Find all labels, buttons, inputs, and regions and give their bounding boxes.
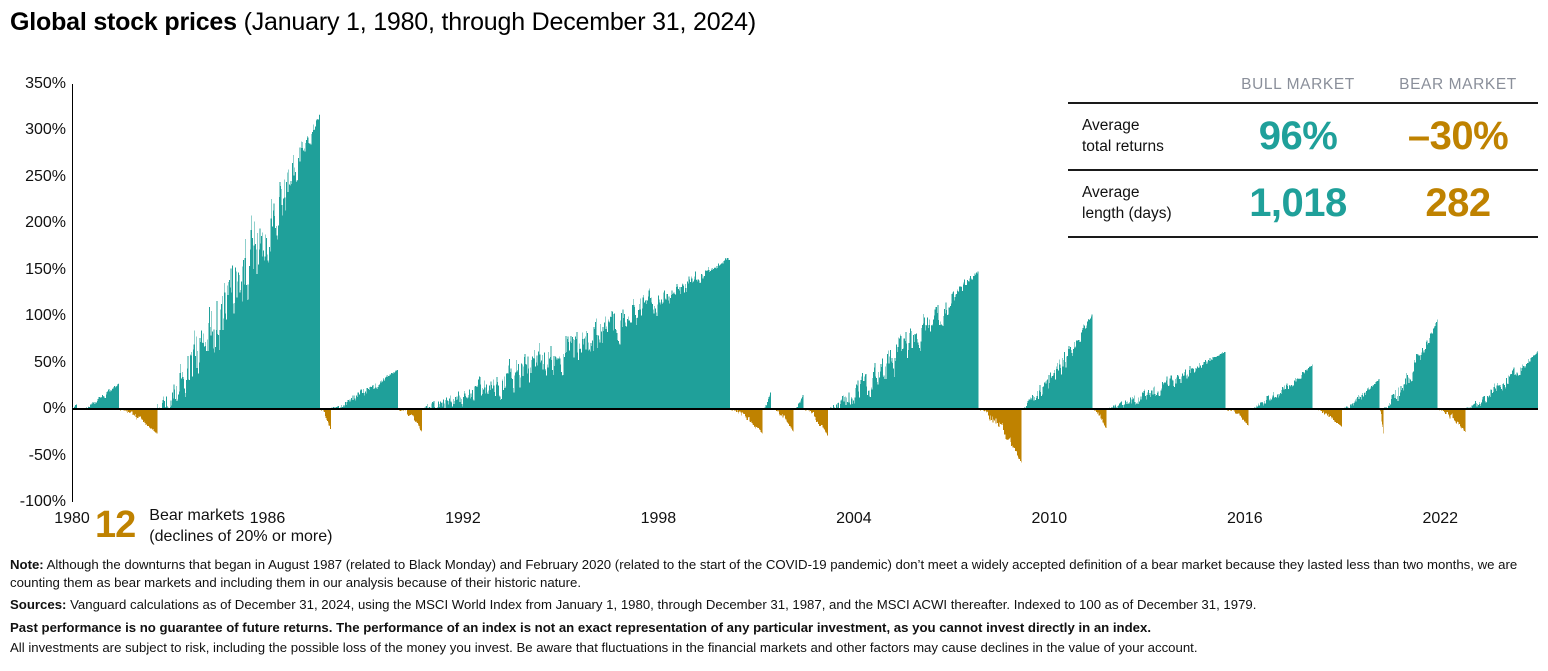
footnote-disclaimer-bold: Past performance is no guarantee of futu… bbox=[10, 619, 1542, 637]
bear-market-segment-20 bbox=[1313, 409, 1342, 428]
stats-header-bear: BEAR MARKET bbox=[1378, 76, 1538, 103]
footnote-note-text: Although the downturns that began in Aug… bbox=[10, 557, 1517, 590]
stats-row-average-length: Average length (days) 1,018 282 bbox=[1068, 170, 1538, 237]
bull-market-segment-25 bbox=[1466, 351, 1538, 409]
y-axis-tick: 350% bbox=[25, 75, 66, 93]
bear-market-segment-6 bbox=[399, 409, 422, 433]
stats-row-average-total-returns: Average total returns 96% –30% bbox=[1068, 103, 1538, 170]
bear-market-segment-14 bbox=[979, 409, 1021, 463]
stats-value-bull-length: 1,018 bbox=[1218, 170, 1378, 237]
x-axis-tick: 2010 bbox=[1032, 510, 1068, 528]
stats-label-line1: Average bbox=[1082, 183, 1218, 204]
y-axis-tick: -100% bbox=[20, 493, 66, 511]
x-axis-tick: 2004 bbox=[836, 510, 872, 528]
bear-markets-callout: 12 Bear markets (declines of 20% or more… bbox=[95, 502, 332, 547]
footnote-sources-text: Vanguard calculations as of December 31,… bbox=[66, 597, 1256, 612]
y-axis-tick: 250% bbox=[25, 168, 66, 186]
market-stats-table: BULL MARKET BEAR MARKET Average total re… bbox=[1068, 76, 1538, 238]
y-axis-tick: 50% bbox=[34, 354, 66, 372]
bull-market-segment-11 bbox=[795, 392, 803, 409]
bear-market-segment-10 bbox=[772, 409, 793, 432]
bear-market-segment-18 bbox=[1227, 409, 1249, 427]
page-title-main: Global stock prices bbox=[10, 8, 237, 36]
bear-market-segment-22 bbox=[1380, 409, 1383, 441]
stats-header-blank bbox=[1068, 76, 1218, 103]
bull-market-segment-5 bbox=[331, 369, 398, 409]
y-axis-tick: 300% bbox=[25, 121, 66, 139]
y-axis-tick: -50% bbox=[29, 447, 66, 465]
bear-market-segment-24 bbox=[1439, 409, 1466, 433]
bear-caption-line2: (declines of 20% or more) bbox=[149, 526, 332, 547]
bull-market-segment-9 bbox=[764, 390, 771, 410]
stats-row-label: Average length (days) bbox=[1068, 170, 1218, 237]
bear-market-segment-12 bbox=[805, 409, 828, 437]
footnote-sources-label: Sources: bbox=[10, 597, 66, 612]
bear-caption-line1: Bear markets bbox=[149, 505, 332, 526]
stats-label-line2: length (days) bbox=[1082, 204, 1218, 225]
bull-market-segment-21 bbox=[1343, 378, 1379, 409]
footnote-sources: Sources: Vanguard calculations as of Dec… bbox=[10, 596, 1542, 614]
bear-market-segment-4 bbox=[321, 409, 331, 431]
footnote-note: Note: Although the downturns that began … bbox=[10, 556, 1542, 591]
bear-market-count: 12 bbox=[95, 506, 135, 544]
stats-label-line2: total returns bbox=[1082, 137, 1218, 158]
bear-market-segment-2 bbox=[119, 409, 157, 434]
bull-market-segment-1 bbox=[83, 383, 119, 409]
stats-header-bull: BULL MARKET bbox=[1218, 76, 1378, 103]
y-axis-tick-labels: 350%300%250%200%150%100%50%0%-50%-100% bbox=[0, 84, 66, 502]
bull-market-segment-15 bbox=[1023, 314, 1092, 409]
stats-value-bull-returns: 96% bbox=[1218, 103, 1378, 170]
footnotes: Note: Although the downturns that began … bbox=[10, 556, 1542, 662]
bear-market-segment-16 bbox=[1093, 409, 1106, 429]
bear-market-segment-8 bbox=[732, 409, 763, 435]
bull-market-segment-7 bbox=[423, 258, 730, 409]
bull-market-segment-3 bbox=[157, 114, 320, 409]
stats-header-row: BULL MARKET BEAR MARKET bbox=[1068, 76, 1538, 103]
bull-market-segment-23 bbox=[1384, 319, 1437, 409]
x-axis-tick: 1998 bbox=[641, 510, 677, 528]
bull-market-segment-13 bbox=[829, 270, 978, 409]
footnote-disclaimer-plain: All investments are subject to risk, inc… bbox=[10, 639, 1542, 657]
page-title-subtitle: (January 1, 1980, through December 31, 2… bbox=[237, 8, 756, 36]
y-axis-tick: 200% bbox=[25, 214, 66, 232]
y-axis-tick: 0% bbox=[43, 400, 66, 418]
stats-value-bear-length: 282 bbox=[1378, 170, 1538, 237]
y-axis-tick: 100% bbox=[25, 307, 66, 325]
x-axis-tick: 2022 bbox=[1422, 510, 1458, 528]
bull-market-segment-19 bbox=[1250, 365, 1313, 410]
bull-market-segment-17 bbox=[1108, 351, 1225, 410]
y-axis-tick: 150% bbox=[25, 261, 66, 279]
bear-market-caption: Bear markets (declines of 20% or more) bbox=[149, 502, 332, 547]
stats-value-bear-returns: –30% bbox=[1378, 103, 1538, 170]
x-axis-tick: 1992 bbox=[445, 510, 481, 528]
x-axis-tick: 2016 bbox=[1227, 510, 1263, 528]
footnote-note-label: Note: bbox=[10, 557, 44, 572]
page-title: Global stock prices (January 1, 1980, th… bbox=[10, 8, 756, 37]
x-axis-tick: 1980 bbox=[54, 510, 90, 528]
stats-label-line1: Average bbox=[1082, 116, 1218, 137]
stats-row-label: Average total returns bbox=[1068, 103, 1218, 170]
